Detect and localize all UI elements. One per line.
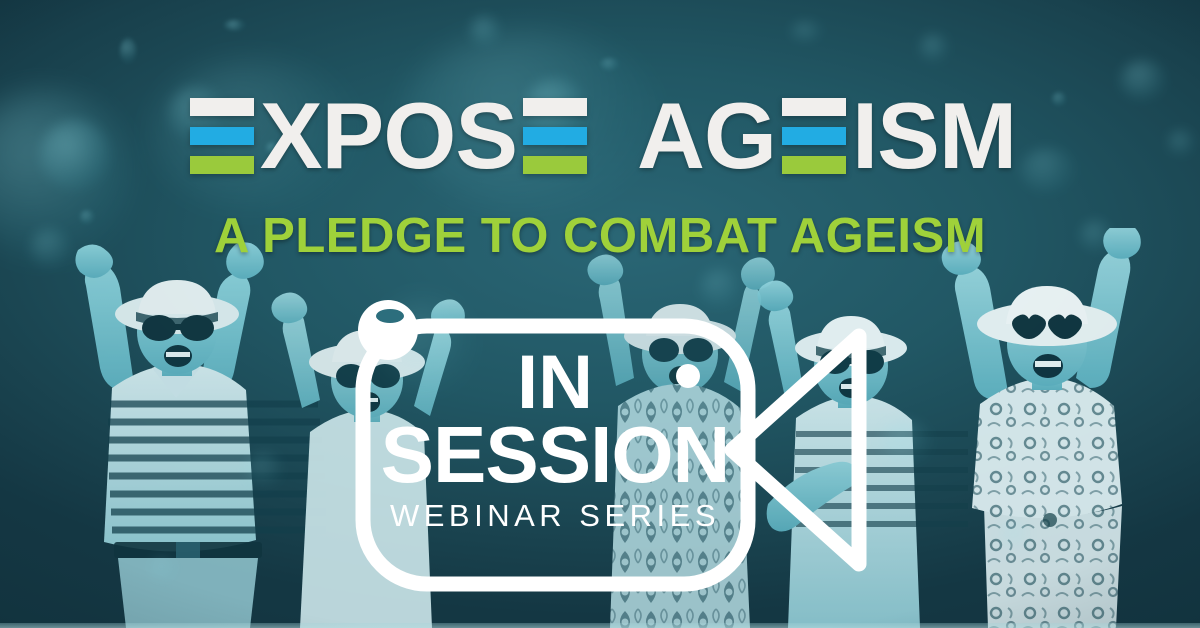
bottom-accent-strip <box>0 623 1200 628</box>
bar-e-glyph-icon <box>190 98 254 174</box>
expose-ageism-banner: XPOS AG ISM A PLEDGE TO COMBAT AGEISM <box>0 0 1200 628</box>
wordmark-word-expose: XPOS <box>184 96 593 176</box>
wordmark-ageism-letters-b: ISM <box>852 96 1016 176</box>
wordmark-expose-letters: XPOS <box>260 96 517 176</box>
bar-e-glyph-icon <box>782 98 846 174</box>
in-session-camera-badge: IN SESSION WEBINAR SERIES <box>340 300 880 600</box>
wordmark-word-ageism: AG ISM <box>637 96 1016 176</box>
video-camera-icon <box>340 300 880 600</box>
subtitle-pledge: A PLEDGE TO COMBAT AGEISM <box>0 212 1200 261</box>
wordmark-expose-ageism: XPOS AG ISM <box>0 96 1200 176</box>
wordmark-ageism-letters-a: AG <box>637 96 776 176</box>
bar-e-glyph-icon <box>523 98 587 174</box>
